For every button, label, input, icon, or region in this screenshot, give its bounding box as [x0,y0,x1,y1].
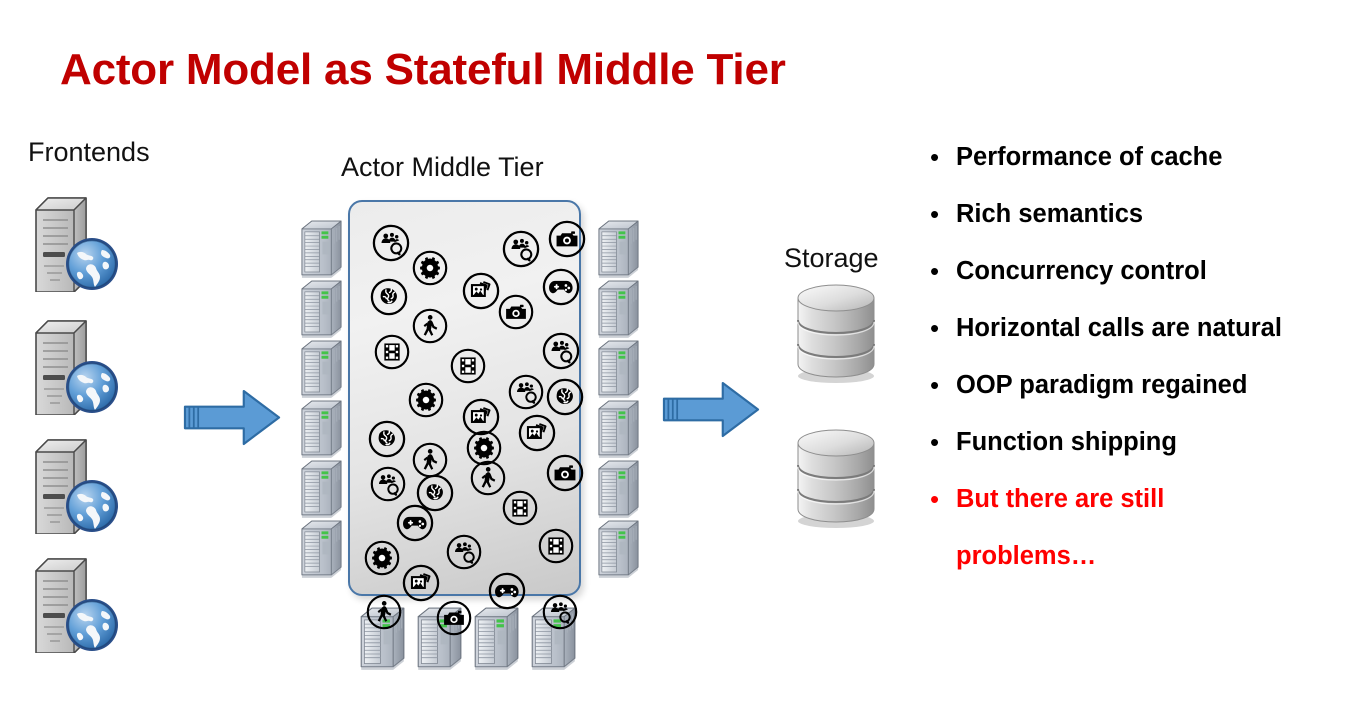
bullet-label: Horizontal calls are natural [956,311,1282,345]
frontends-label: Frontends [28,137,150,168]
web-server-icon[interactable] [24,192,124,300]
rack-server-icon[interactable] [299,518,344,579]
page-title: Actor Model as Stateful Middle Tier [60,45,786,96]
camera-icon[interactable] [546,454,584,492]
film-icon[interactable] [374,334,410,370]
actor-middle-tier-label: Actor Middle Tier [341,152,544,183]
bullet-item: •OOP paradigm regained [930,368,1372,425]
people-search-icon[interactable] [542,332,580,370]
bullet-marker-icon: • [930,425,956,459]
bullet-marker-icon: • [930,482,956,516]
camera-icon[interactable] [436,600,472,636]
walking-icon[interactable] [412,442,448,478]
rack-server-icon[interactable] [596,518,641,579]
web-server-icon[interactable] [24,434,124,542]
gear-icon[interactable] [412,250,448,286]
rack-server-icon[interactable] [596,218,641,279]
rack-server-icon[interactable] [596,398,641,459]
slide-canvas: Actor Model as Stateful Middle Tier Fron… [0,0,1372,711]
people-search-icon[interactable] [370,466,406,502]
globe-icon [64,478,120,534]
brain-icon[interactable] [370,278,408,316]
bullet-label: Concurrency control [956,254,1207,288]
brain-icon[interactable] [368,420,406,458]
film-icon[interactable] [502,490,538,526]
benefits-bullet-list: •Performance of cache•Rich semantics•Con… [930,140,1372,596]
rack-server-icon[interactable] [299,278,344,339]
gear-icon[interactable] [364,540,400,576]
web-server-icon[interactable] [24,315,124,423]
bullet-marker-icon: • [930,368,956,402]
camera-icon[interactable] [498,294,534,330]
walking-icon[interactable] [412,308,448,344]
arrow-frontends-to-middle [183,387,281,448]
bullet-marker-icon: • [930,140,956,174]
bullet-marker-icon: • [930,254,956,288]
rack-server-icon[interactable] [299,218,344,279]
rack-server-icon[interactable] [299,398,344,459]
people-search-icon[interactable] [372,224,410,262]
brain-icon[interactable] [546,378,584,416]
bullet-item: •Performance of cache [930,140,1372,197]
bullet-label: Function shipping [956,425,1177,459]
web-server-icon[interactable] [24,553,124,661]
people-search-icon[interactable] [502,230,540,268]
globe-icon [64,597,120,653]
rack-server-icon[interactable] [299,338,344,399]
storage-label: Storage [784,243,879,274]
globe-icon [64,236,120,292]
bullet-marker-icon: • [930,197,956,231]
bullet-item: •Rich semantics [930,197,1372,254]
film-icon[interactable] [450,348,486,384]
bullet-item: •Horizontal calls are natural [930,311,1372,368]
people-search-icon[interactable] [508,374,544,410]
people-search-icon[interactable] [542,594,578,630]
gear-icon[interactable] [408,382,444,418]
photos-icon[interactable] [462,272,500,310]
actor-middle-tier-container [348,200,581,596]
arrow-middle-to-storage [662,379,760,440]
bullet-item: •But there are still [930,482,1372,539]
gamepad-icon[interactable] [488,572,526,610]
bullet-item: •Function shipping [930,425,1372,482]
bullet-label: But there are still [956,482,1164,516]
gamepad-icon[interactable] [396,504,434,542]
bullet-label: Rich semantics [956,197,1143,231]
rack-server-icon[interactable] [596,338,641,399]
globe-icon [64,359,120,415]
bullet-label: Performance of cache [956,140,1222,174]
photos-icon[interactable] [518,414,556,452]
database-cylinder-icon[interactable] [788,272,884,384]
people-search-icon[interactable] [446,534,482,570]
walking-icon[interactable] [470,460,506,496]
walking-icon[interactable] [366,594,402,630]
database-cylinder-icon[interactable] [788,417,884,529]
rack-server-icon[interactable] [299,458,344,519]
camera-icon[interactable] [548,220,586,258]
rack-server-icon[interactable] [596,278,641,339]
photos-icon[interactable] [402,564,440,602]
bullet-label: OOP paradigm regained [956,368,1247,402]
bullet-item: •Concurrency control [930,254,1372,311]
rack-server-icon[interactable] [472,605,521,671]
rack-server-icon[interactable] [596,458,641,519]
film-icon[interactable] [538,528,574,564]
gamepad-icon[interactable] [542,268,580,306]
bullet-marker-icon: • [930,311,956,345]
bullet-label-continuation: problems… [956,539,1372,596]
